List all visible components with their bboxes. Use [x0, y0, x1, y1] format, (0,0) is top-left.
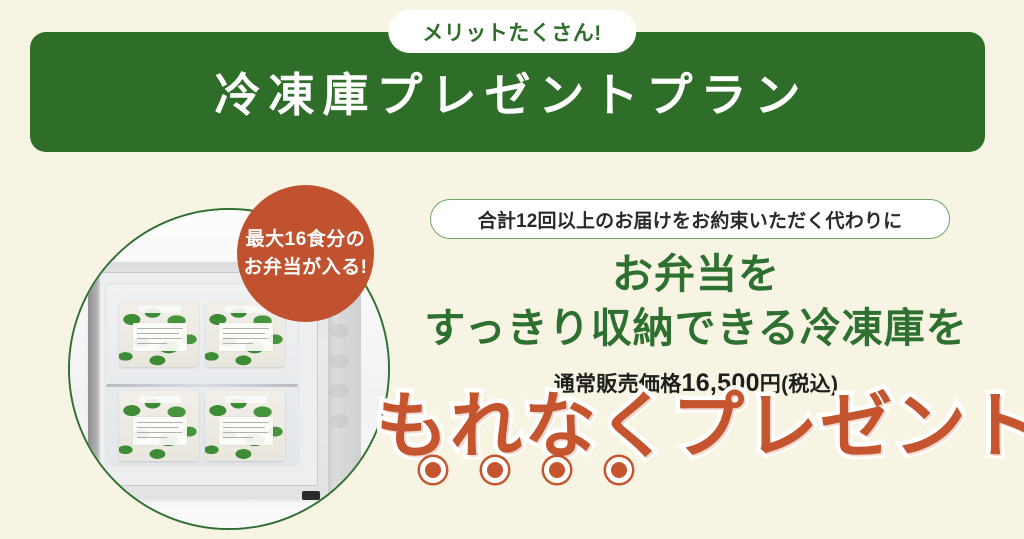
- bento-pack: [119, 391, 199, 461]
- emphasis-dot: [420, 457, 446, 483]
- capacity-callout-line2: お弁当が入る!: [244, 254, 368, 282]
- emphasis-dots: [396, 457, 1024, 483]
- freezer-foot: [302, 491, 320, 500]
- emphasis-dot: [544, 457, 570, 483]
- bento-pack: [205, 391, 285, 461]
- offer-headline-line1: お弁当を: [396, 247, 996, 301]
- promise-pill: 合計12回以上のお届けをお約束いただく代わりに: [430, 199, 950, 239]
- emphasis-dot: [606, 457, 632, 483]
- capacity-callout-line1: 最大16食分の: [246, 226, 366, 254]
- promo-banner: 冷凍庫プレゼントプラン メリットたくさん!: [0, 0, 1024, 539]
- emphasis-dot: [482, 457, 508, 483]
- offer-headline: お弁当を すっきり収納できる冷凍庫を: [396, 247, 996, 355]
- capacity-callout-badge: 最大16食分の お弁当が入る!: [237, 185, 374, 322]
- freezer-foot: [98, 493, 116, 502]
- bento-pack: [119, 301, 199, 367]
- present-headline-wrap: もれなくプレゼント!: [376, 391, 1016, 463]
- freezer-shelf: [106, 384, 298, 387]
- offer-headline-line2: すっきり収納できる冷凍庫を: [396, 301, 996, 355]
- header-badge: メリットたくさん!: [388, 10, 636, 53]
- offer-column: 合計12回以上のお届けをお約束いただく代わりに お弁当を すっきり収納できる冷凍…: [396, 185, 996, 535]
- present-headline: もれなくプレゼント!: [376, 391, 1024, 463]
- freezer-left-edge: [88, 262, 100, 497]
